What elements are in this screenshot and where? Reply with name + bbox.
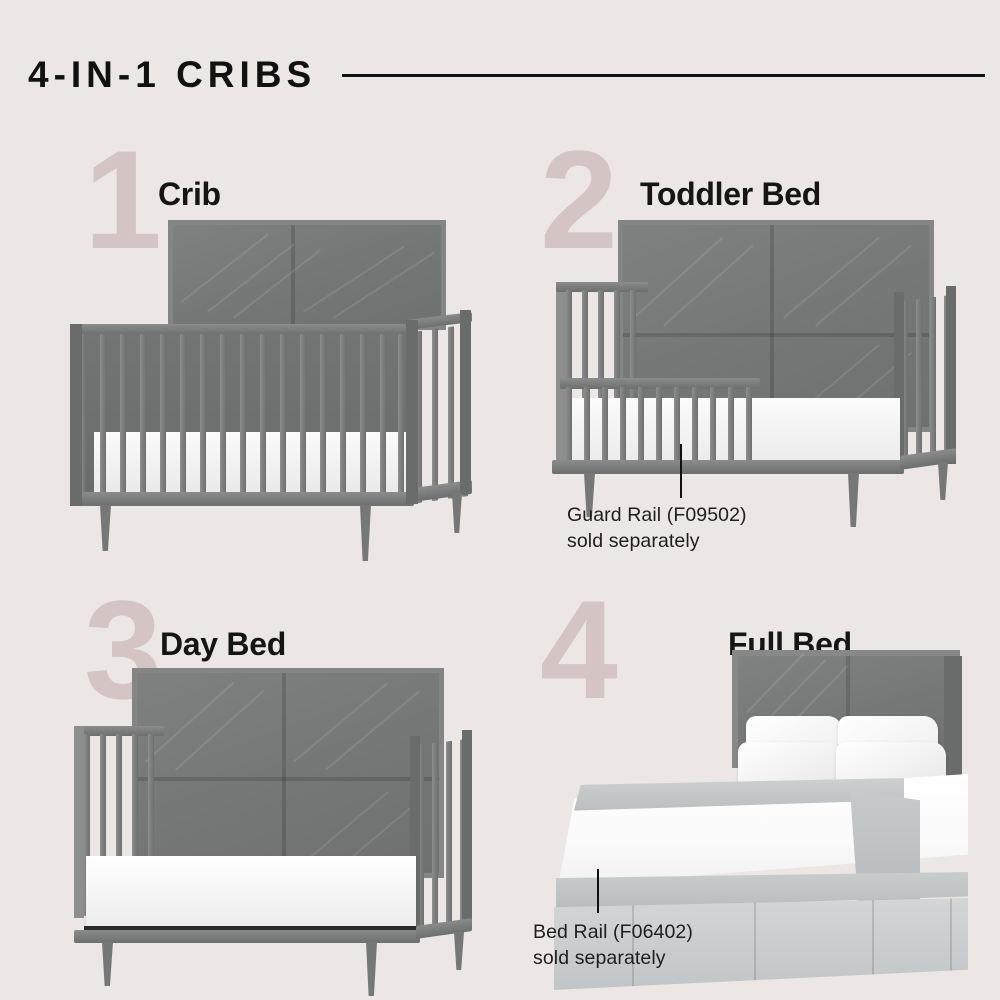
skirt-pleat [754,898,756,990]
crib-post-left [70,324,82,506]
headboard-divider [291,225,295,325]
daybed-bottom-rail-front [74,930,420,943]
daybed-headboard-panel [132,668,444,878]
crib-leg-front-right [360,505,371,561]
daybed-mattress [86,856,416,928]
panel-toddler-bed-label: Toddler Bed [640,176,821,213]
guard-rail-slats [564,387,756,465]
bed-rail-caption: Bed Rail (F06402) sold separately [533,920,693,971]
toddler-leg-rear-right [938,462,948,500]
panel-day-bed-label: Day Bed [160,626,286,663]
toddler-guard-rail [560,378,760,464]
bed-rail-leader-line [597,869,599,913]
crib-front-slats [76,334,410,497]
chevron-line [181,233,269,302]
panel-crib: 1 Crib [30,130,500,530]
header-divider-rule [342,74,985,77]
crib-post-right [406,320,418,504]
crib-post-rear [460,310,471,494]
panel-day-bed: 3 Day Bed [30,580,500,980]
day-bed-illustration [68,668,478,998]
daybed-post-rear [462,730,472,920]
daybed-leg-rear-right [454,932,464,970]
toddler-post-rear [946,286,956,464]
panel-crib-label: Crib [158,176,221,213]
toddler-side-slats-right [900,295,952,469]
headboard-divider-horizontal [623,333,929,337]
toddler-bottom-rail-front [552,460,904,474]
headboard-divider-vertical [770,225,774,427]
page-title: 4-IN-1 CRIBS [28,56,316,93]
daybed-leg-front-left [102,942,113,986]
skirt-pleat [872,898,874,990]
panel-toddler-bed: 2 Toddler Bed [500,130,980,560]
crib-leg-front-left [100,505,111,551]
guard-rail-caption: Guard Rail (F09502) sold separately [567,503,747,554]
toddler-leg-front-right [848,473,859,527]
headboard-divider-horizontal [137,777,439,781]
crib-bottom-rail-front [70,492,414,506]
page-header: 4-IN-1 CRIBS [28,46,986,102]
chevron-line [333,252,435,319]
daybed-side-slats-right [416,739,468,931]
crib-illustration [70,220,470,550]
skirt-pleat [950,898,952,990]
daybed-leg-front-right [366,942,377,996]
guard-rail-leader-line [680,444,682,498]
crib-leg-rear-right [452,493,462,533]
headboard-divider-vertical [282,673,286,873]
crib-headboard-panel [168,220,446,330]
